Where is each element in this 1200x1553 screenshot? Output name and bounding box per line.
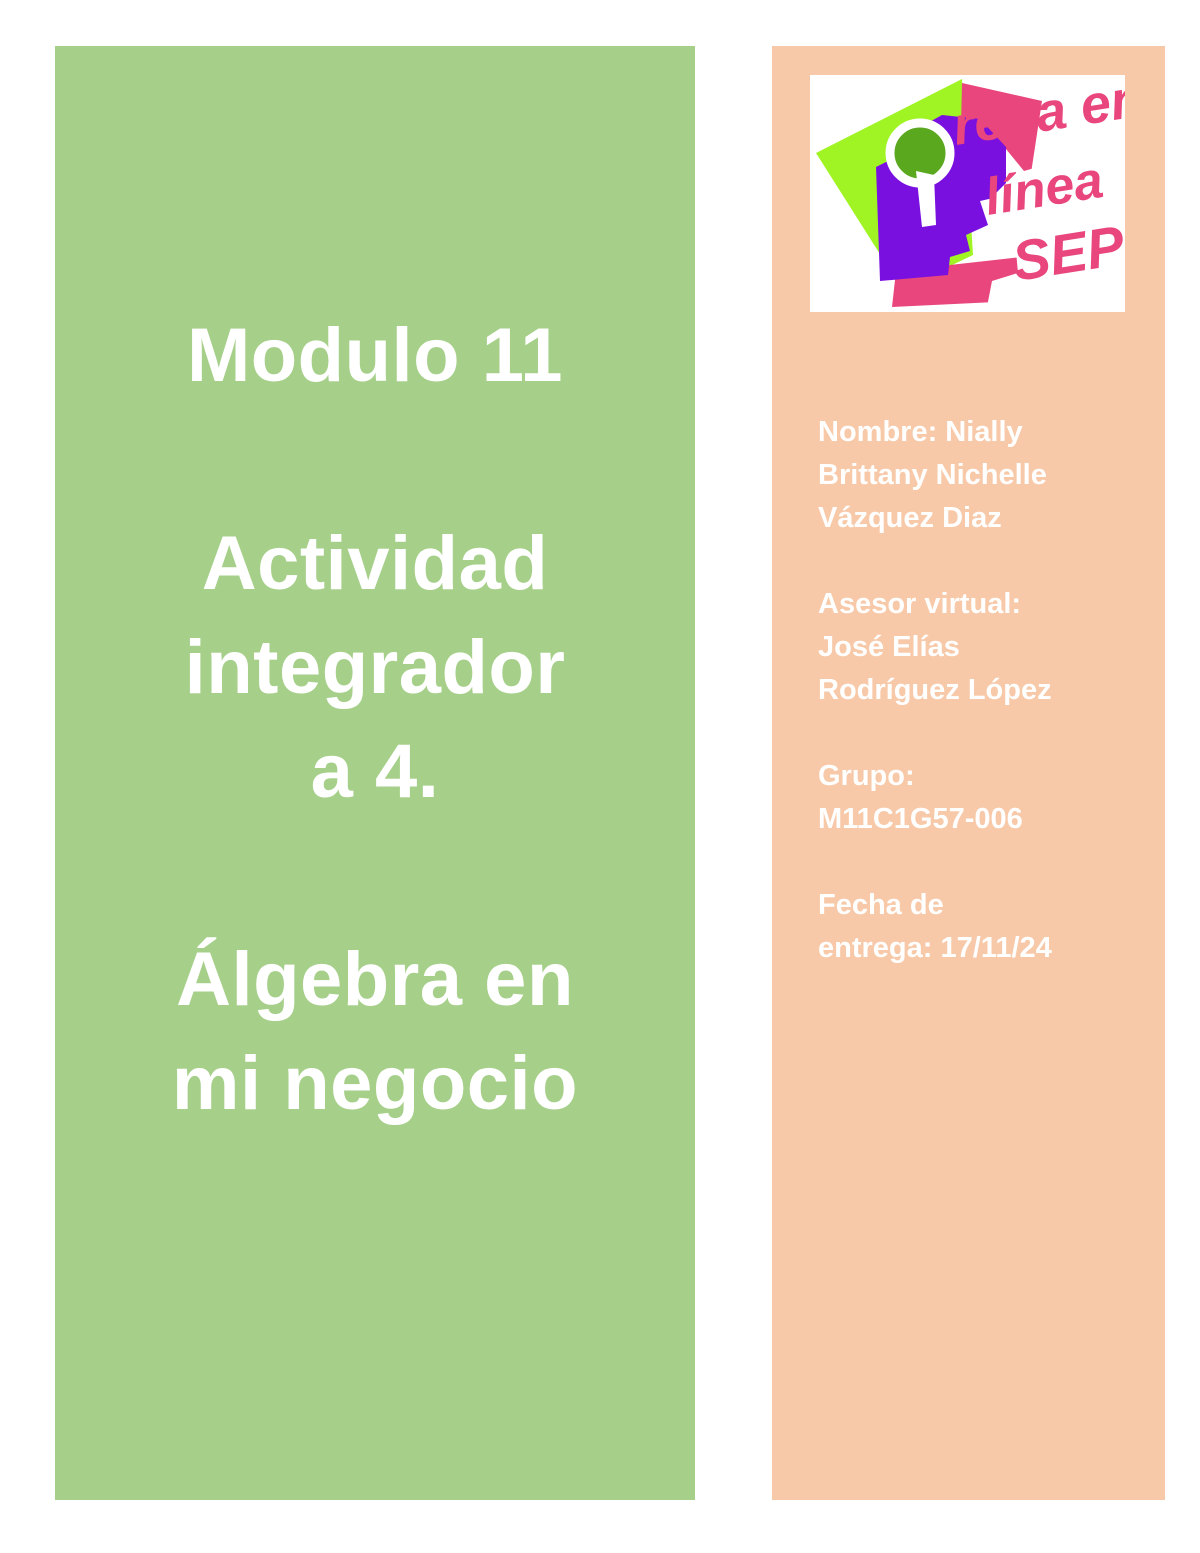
meta-asesor-line-3: Rodríguez López	[818, 669, 1148, 712]
cover-title-line-1: Modulo 11	[81, 304, 669, 408]
meta-fecha-line-1: Fecha de	[818, 884, 1148, 927]
cover-right-panel: repa en línea SEP Nombre: Nially Brittan…	[772, 46, 1165, 1500]
meta-nombre-line-2: Brittany Nichelle	[818, 454, 1148, 497]
cover-title-block: Modulo 11 Actividad integrador a 4. Álge…	[55, 304, 695, 1136]
cover-left-panel: Modulo 11 Actividad integrador a 4. Álge…	[55, 46, 695, 1500]
cover-title-line-2: Actividad	[81, 512, 669, 616]
meta-grupo-line-2: M11C1G57-006	[818, 798, 1148, 841]
meta-grupo-line-1: Grupo:	[818, 755, 1148, 798]
meta-fecha-line-2: entrega: 17/11/24	[818, 927, 1148, 970]
cover-title-line-5: Álgebra en	[81, 928, 669, 1032]
meta-group-asesor: Asesor virtual: José Elías Rodríguez Lóp…	[818, 583, 1148, 712]
meta-group-nombre: Nombre: Nially Brittany Nichelle Vázquez…	[818, 411, 1148, 540]
cover-title-line-3: integrador	[81, 616, 669, 720]
cover-meta-block: Nombre: Nially Brittany Nichelle Vázquez…	[818, 411, 1148, 970]
logo-container: repa en línea SEP	[810, 75, 1125, 312]
meta-asesor-line-2: José Elías	[818, 626, 1148, 669]
meta-asesor-line-1: Asesor virtual:	[818, 583, 1148, 626]
meta-group-grupo: Grupo: M11C1G57-006	[818, 755, 1148, 841]
meta-group-fecha: Fecha de entrega: 17/11/24	[818, 884, 1148, 970]
cover-title-line-4: a 4.	[81, 720, 669, 824]
prepa-en-linea-sep-logo-icon: repa en línea SEP	[810, 75, 1125, 312]
cover-title-line-6: mi negocio	[81, 1032, 669, 1136]
cover-title-spacer-1	[81, 408, 669, 512]
meta-nombre-line-1: Nombre: Nially	[818, 411, 1148, 454]
cover-title-spacer-2	[81, 824, 669, 928]
meta-nombre-line-3: Vázquez Diaz	[818, 497, 1148, 540]
